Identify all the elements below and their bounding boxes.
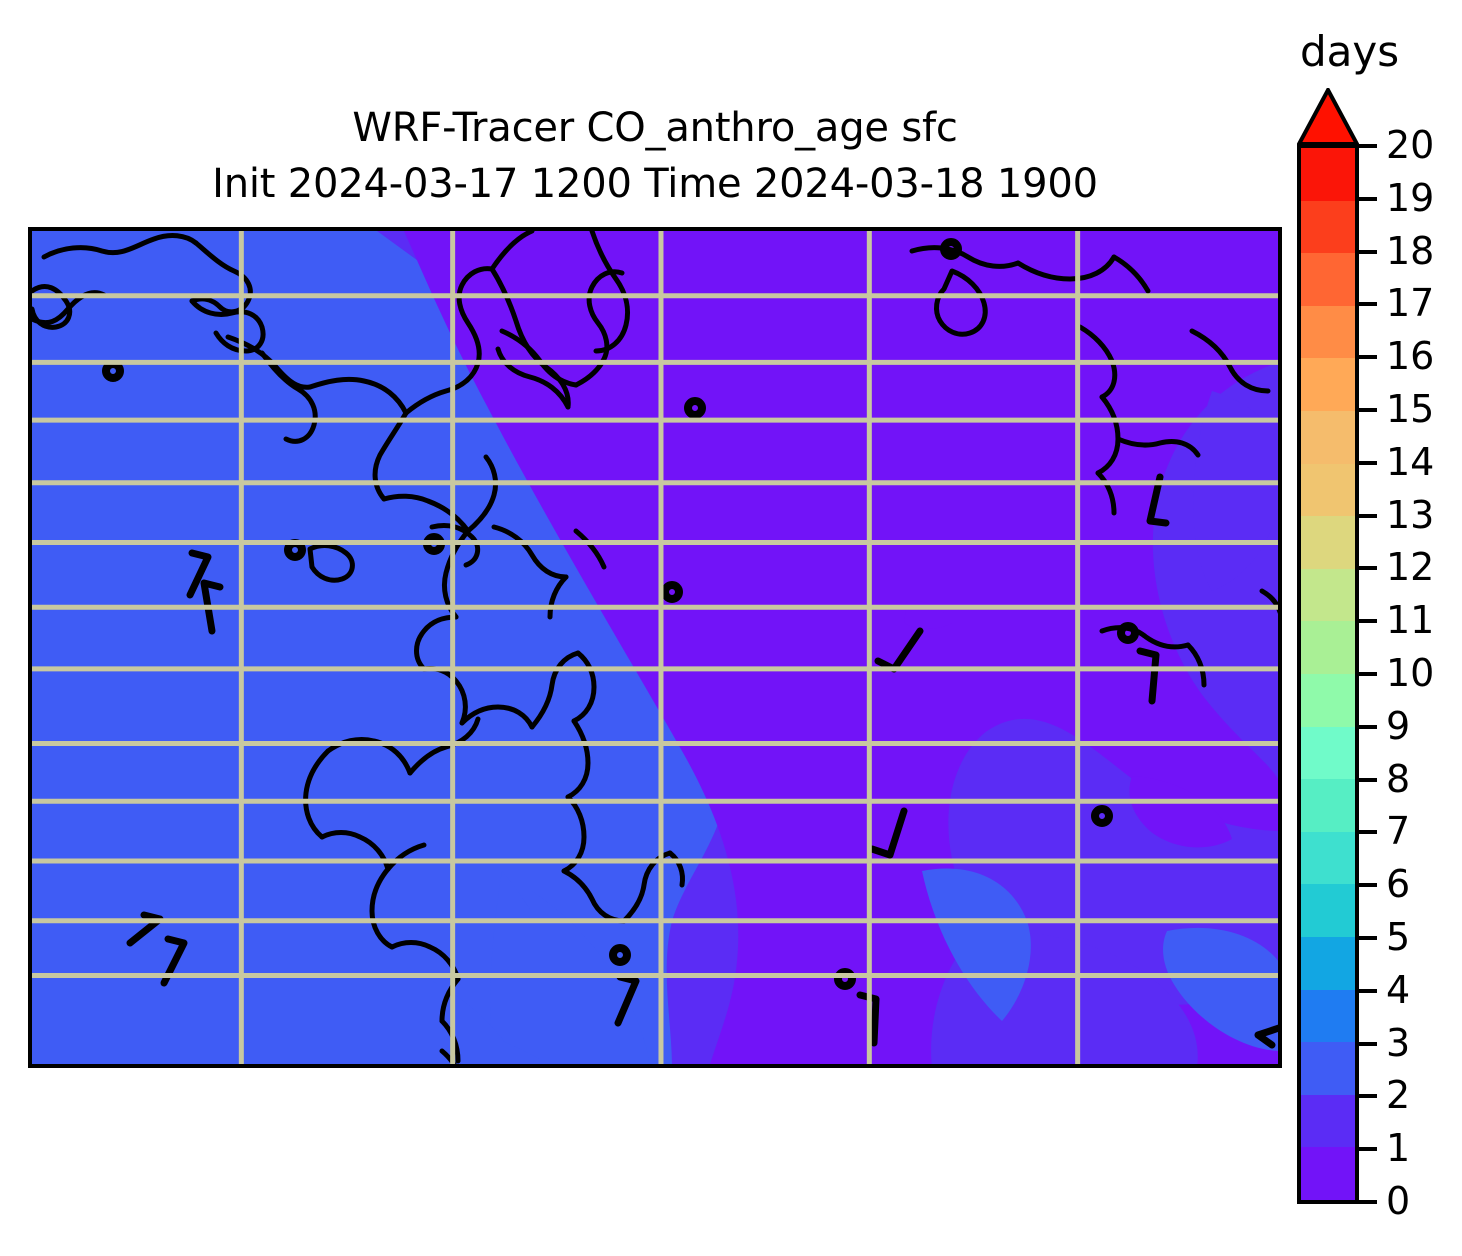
tick-label: 19 [1386,179,1434,217]
tick-label: 13 [1386,496,1434,534]
colorbar-band-0 [1301,1147,1355,1200]
tick-label: 3 [1386,1024,1410,1062]
colorbar-band-14 [1301,411,1355,464]
tick-mark [1357,989,1377,993]
tick-label: 10 [1386,654,1434,692]
tick-mark [1357,883,1377,887]
tick-label: 6 [1386,865,1410,903]
figure-canvas: WRF-Tracer CO_anthro_age sfc Init 2024-0… [0,0,1462,1256]
tick-label: 20 [1386,126,1434,164]
tick-label: 14 [1386,443,1434,481]
tick-mark [1357,672,1377,676]
colorbar-band-17 [1301,253,1355,306]
colorbar-band-2 [1301,1042,1355,1095]
colorbar-extend-arrow [1297,88,1359,146]
colorbar-band-18 [1301,201,1355,254]
tick-mark [1357,830,1377,834]
tick-mark [1357,197,1377,201]
tick-label: 11 [1386,601,1434,639]
map-axes[interactable] [28,227,1282,1068]
tick-label: 1 [1386,1129,1410,1167]
tick-label: 15 [1386,390,1434,428]
colorbar-band-4 [1301,937,1355,990]
colorbar-band-3 [1301,990,1355,1043]
tick-label: 12 [1386,548,1434,586]
tick-mark [1357,566,1377,570]
tick-label: 0 [1386,1182,1410,1220]
tick-mark [1357,408,1377,412]
colorbar-band-16 [1301,306,1355,359]
tick-label: 8 [1386,760,1410,798]
tick-label: 4 [1386,971,1410,1009]
colorbar-band-8 [1301,727,1355,780]
tick-label: 16 [1386,337,1434,375]
colorbar[interactable] [1297,88,1359,1206]
tick-label: 9 [1386,707,1410,745]
colorbar-band-19 [1301,148,1355,201]
colorbar-band-12 [1301,516,1355,569]
tick-mark [1357,1042,1377,1046]
tick-label: 7 [1386,812,1410,850]
colorbar-band-10 [1301,621,1355,674]
tick-mark [1357,302,1377,306]
tick-mark [1357,778,1377,782]
tick-mark [1357,936,1377,940]
colorbar-band-11 [1301,569,1355,622]
tick-label: 5 [1386,918,1410,956]
colorbar-tick-layer: 01234567891011121314151617181920 [1357,88,1462,1218]
colorbar-band-15 [1301,358,1355,411]
map-data-layer [32,231,1278,1064]
tick-mark [1357,250,1377,254]
map-plot-svg [32,231,1278,1064]
colorbar-band-13 [1301,464,1355,517]
tick-mark [1357,1147,1377,1151]
tick-mark [1357,725,1377,729]
colorbar-gradient[interactable] [1297,144,1359,1204]
colorbar-band-9 [1301,674,1355,727]
tick-mark [1357,355,1377,359]
page-title: WRF-Tracer CO_anthro_age sfc Init 2024-0… [28,100,1282,212]
tick-mark [1357,1200,1377,1204]
colorbar-band-5 [1301,884,1355,937]
colorbar-unit-label: days [1300,28,1399,76]
colorbar-band-1 [1301,1095,1355,1148]
colorbar-band-6 [1301,832,1355,885]
tick-mark [1357,144,1377,148]
tick-mark [1357,619,1377,623]
tick-mark [1357,1094,1377,1098]
tick-label: 2 [1386,1076,1410,1114]
tick-mark [1357,514,1377,518]
tick-label: 18 [1386,232,1434,270]
colorbar-band-7 [1301,779,1355,832]
tick-mark [1357,461,1377,465]
tick-label: 17 [1386,284,1434,322]
